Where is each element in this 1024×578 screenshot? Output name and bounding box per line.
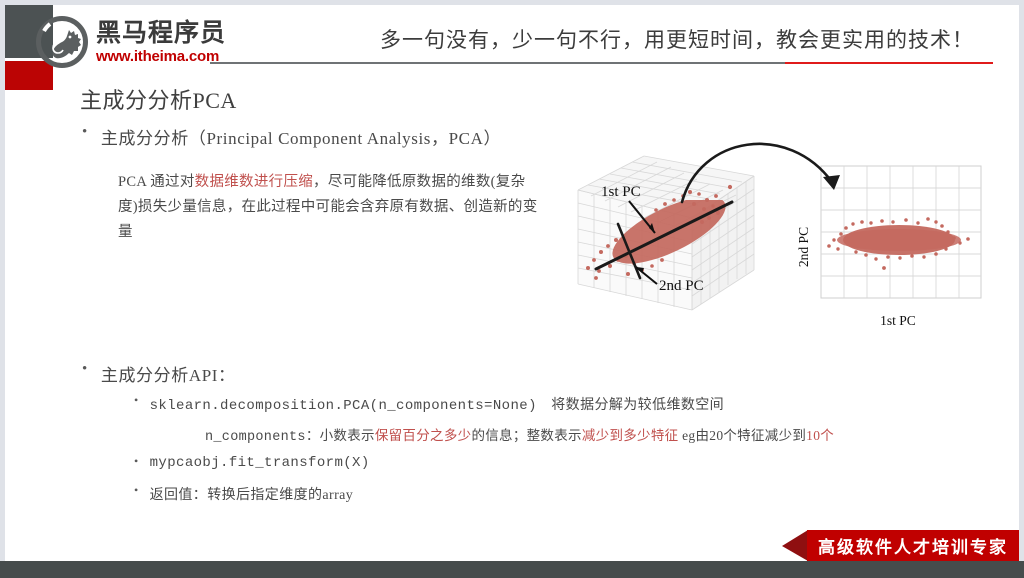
para-seg-1: PCA 通过对 xyxy=(118,174,195,190)
n-components-description: n_components：小数表示保留百分之多少的信息；整数表示减少到多少特征 … xyxy=(205,424,834,445)
bullet-api-label: 主成分分析API： xyxy=(101,361,236,386)
bullet-dot-icon: • xyxy=(82,124,88,141)
bullet-fit-transform: • mypcaobj.fit_transform(X) xyxy=(134,455,370,471)
bullet-dot-icon: • xyxy=(134,484,139,497)
slide-canvas: 黑马程序员 www.itheima.com 多一句没有，少一句不行，用更短时间，… xyxy=(0,0,1024,578)
frame-top-edge xyxy=(0,0,1024,5)
page-title: 主成分分析PCA xyxy=(80,83,237,115)
bullet-fit-label: mypcaobj.fit_transform(X) xyxy=(150,455,370,471)
n-components-seg-3: 的信息；整数表示 xyxy=(471,428,581,443)
header-rule-red xyxy=(785,62,993,64)
n-components-highlight-2: 减少到多少特征 xyxy=(582,428,679,443)
n-components-seg-5: eg由20个特征减少到 xyxy=(678,428,806,443)
n-components-label: n_components： xyxy=(205,430,320,445)
bullet-dot-icon: • xyxy=(134,455,139,468)
label-2nd-pc: 2nd PC xyxy=(659,278,704,294)
bullet-sklearn-label: sklearn.decomposition.PCA(n_components=N… xyxy=(150,394,724,414)
header-tagline: 多一句没有，少一句不行，用更短时间，教会更实用的技术！ xyxy=(380,24,974,54)
xlabel-1st-pc: 1st PC xyxy=(880,313,916,328)
bullet-dot-icon: • xyxy=(134,394,139,407)
frame-right-edge xyxy=(1019,0,1024,566)
n-components-seg-1: 小数表示 xyxy=(320,428,375,443)
label-1st-pc: 1st PC xyxy=(601,184,641,200)
bullet-intro: • 主成分分析（Principal Component Analysis，PCA… xyxy=(82,124,501,149)
pca-description-paragraph: PCA 通过对数据维数进行压缩，尽可能降低原数据的维数(复杂度)损失少量信息，在… xyxy=(118,170,538,245)
curved-arrow-icon xyxy=(676,120,866,215)
bullet-return-value: • 返回值：转换后指定维度的array xyxy=(134,484,353,504)
bullet-dot-icon: • xyxy=(82,361,88,378)
footer-ribbon: 高级软件人才培训专家 xyxy=(782,530,1019,561)
bullet-intro-label: 主成分分析（Principal Component Analysis，PCA） xyxy=(101,124,501,149)
brand-name: 黑马程序员 xyxy=(96,21,226,46)
ylabel-2nd-pc: 2nd PC xyxy=(796,227,811,267)
brand-url: www.itheima.com xyxy=(96,49,226,64)
bullet-sklearn-call: • sklearn.decomposition.PCA(n_components… xyxy=(134,394,724,414)
horse-head-emblem-icon xyxy=(36,16,88,68)
n-components-highlight-1: 保留百分之多少 xyxy=(375,428,472,443)
bullet-api-heading: • 主成分分析API： xyxy=(82,361,236,386)
bullet-return-label: 返回值：转换后指定维度的array xyxy=(150,484,354,504)
ribbon-body: 高级软件人才培训专家 xyxy=(807,530,1019,561)
frame-bottom-bar xyxy=(0,561,1024,578)
brand-logo: 黑马程序员 www.itheima.com xyxy=(36,16,226,68)
n-components-highlight-3: 10个 xyxy=(806,428,834,443)
header-rule-gray xyxy=(210,62,785,64)
para-seg-highlight: 数据维数进行压缩 xyxy=(195,174,313,190)
footer-ribbon-text: 高级软件人才培训专家 xyxy=(818,533,1008,558)
ribbon-tail-shape xyxy=(782,530,808,561)
